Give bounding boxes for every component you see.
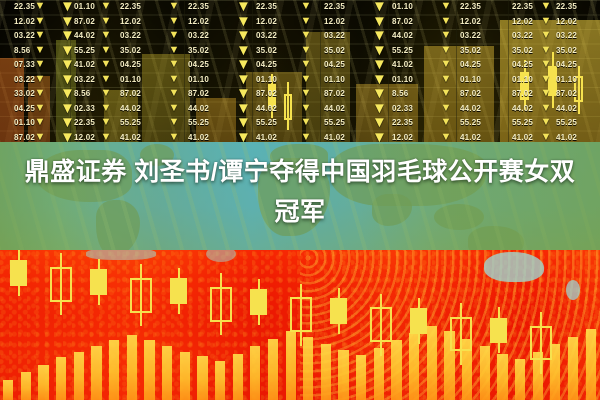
ticker-quote-value: 12.02: [256, 15, 302, 30]
ticker-quote-value: 03.22: [188, 29, 234, 44]
arrow-down-icon: ▼: [100, 87, 112, 102]
volume-bar: [91, 346, 101, 400]
candlestick: [130, 264, 152, 326]
candlestick: [210, 273, 232, 335]
arrow-down-icon: ▼: [100, 73, 112, 88]
ticker-quote-value: 01.10: [120, 73, 166, 88]
ticker-arrow-column: ▼▼▼▼▼▼▼▼▼▼▼: [540, 0, 552, 150]
arrow-down-icon: ▼: [168, 44, 180, 59]
candlestick-body: [330, 298, 347, 324]
ticker-arrow-column: ▼▼▼▼▼▼▼▼▼▼▼: [34, 0, 46, 150]
column-divider: [508, 0, 509, 150]
candlestick-body: [210, 287, 232, 322]
volume-bar: [515, 359, 525, 400]
headline-block: 鼎盛证券 刘圣书/谭宁夺得中国羽毛球公开赛女双 冠军: [0, 152, 600, 252]
ticker-quote-value: 04.25: [460, 58, 506, 73]
ticker-arrow-column: ▼▼▼▼▼▼▼▼▼▼▼: [100, 0, 112, 150]
ticker-quote-value: 55.25: [460, 116, 506, 131]
ticker-quote-value: 02.33: [392, 102, 438, 117]
volume-bar: [162, 346, 172, 400]
ticker-quote-column: 22.3512.0203.2235.0204.2501.1087.0244.02…: [120, 0, 166, 150]
arrow-down-icon: ▼: [168, 29, 180, 44]
arrow-down-icon: ▼: [168, 58, 180, 73]
candlestick-body: [450, 317, 472, 352]
ticker-quote-value: 04.25: [556, 58, 600, 73]
volume-bar: [144, 340, 154, 400]
ticker-quote-value: 03.22: [120, 29, 166, 44]
ticker-quote-value: 55.25: [120, 116, 166, 131]
candlestick-body: [170, 278, 187, 304]
candlestick: [410, 298, 427, 344]
arrow-down-icon: ▼: [100, 58, 112, 73]
candlestick: [530, 312, 552, 374]
ticker-quote-value: 87.02: [460, 87, 506, 102]
ticker-quote-value: 35.02: [188, 44, 234, 59]
ticker-quote-value: 55.25: [324, 116, 370, 131]
ticker-quote-value: 22.35: [188, 0, 234, 15]
column-divider: [184, 0, 185, 150]
volume-bar: [338, 350, 348, 400]
ticker-arrow-column: ▼▼▼▼▼▼▼▼▼▼▼: [440, 0, 452, 150]
volume-bar: [109, 340, 119, 400]
ticker-quote-value: 03.22: [324, 29, 370, 44]
arrow-down-icon: ▼: [540, 87, 552, 102]
volume-bar: [568, 337, 578, 400]
ticker-quote-value: 44.02: [74, 29, 120, 44]
arrow-down-icon: ▼: [34, 87, 46, 102]
ticker-quote-value: 01.10: [556, 73, 600, 88]
ticker-quote-value: 03.22: [74, 73, 120, 88]
ticker-quote-value: 12.02: [556, 15, 600, 30]
candlestick-body: [410, 308, 427, 334]
arrow-down-icon: ▼: [300, 116, 312, 131]
ticker-quote-value: 41.02: [392, 58, 438, 73]
volume-bar: [268, 339, 278, 400]
volume-bar: [21, 372, 31, 400]
arrow-down-icon: ▼: [440, 29, 452, 44]
arrow-down-icon: ▼: [100, 15, 112, 30]
volume-bar: [497, 354, 507, 400]
arrow-down-icon: ▼: [168, 15, 180, 30]
ticker-quote-value: 44.02: [556, 102, 600, 117]
arrow-down-icon: ▼: [168, 0, 180, 15]
ticker-quote-value: 87.02: [324, 87, 370, 102]
arrow-down-icon: ▼: [300, 58, 312, 73]
ticker-quote-value: 01.10: [392, 73, 438, 88]
ticker-quote-value: 22.35: [324, 0, 370, 15]
ticker-quote-column: 22.3512.0203.2235.0204.2501.1087.0244.02…: [460, 0, 506, 150]
ticker-arrow-column: ▼▼▼▼▼▼▼▼▼▼▼: [372, 0, 384, 150]
candlestick-body: [10, 260, 27, 286]
ticker-quote-value: 55.25: [392, 44, 438, 59]
column-divider: [320, 0, 321, 150]
arrow-down-icon: ▼: [34, 73, 46, 88]
stock-ticker-board: 22.3512.0203.228.5607.3303.2233.0204.250…: [0, 0, 600, 150]
candlestick: [330, 288, 347, 334]
ticker-quote-value: 04.25: [188, 58, 234, 73]
arrow-down-icon: ▼: [34, 58, 46, 73]
arrow-down-icon: ▼: [540, 58, 552, 73]
volume-bar: [38, 365, 48, 400]
arrow-down-icon: ▼: [34, 0, 46, 15]
ticker-quote-column: 22.3512.0203.2235.0204.2501.1087.0244.02…: [324, 0, 370, 150]
arrow-down-icon: ▼: [34, 44, 46, 59]
candlestick-body: [290, 297, 312, 332]
ticker-quote-value: 01.10: [392, 0, 438, 15]
volume-bar: [74, 352, 84, 400]
arrow-down-icon: ▼: [300, 87, 312, 102]
arrow-down-icon: ▼: [540, 15, 552, 30]
ticker-quote-value: 22.35: [120, 0, 166, 15]
candlestick-body: [90, 269, 107, 295]
arrow-down-icon: ▼: [540, 73, 552, 88]
arrow-down-icon: ▼: [168, 116, 180, 131]
arrow-down-icon: ▼: [100, 0, 112, 15]
ticker-quote-value: 87.02: [256, 87, 302, 102]
ticker-quote-value: 41.02: [74, 58, 120, 73]
candlestick-body: [530, 326, 552, 361]
column-divider: [456, 0, 457, 150]
ticker-quote-value: 55.25: [556, 116, 600, 131]
ticker-quote-value: 55.25: [188, 116, 234, 131]
ticker-quote-value: 22.35: [556, 0, 600, 15]
ticker-quote-value: 22.35: [392, 116, 438, 131]
candlestick-body: [130, 278, 152, 313]
ticker-quote-value: 03.22: [256, 29, 302, 44]
column-divider: [252, 0, 253, 150]
ticker-quote-value: 35.02: [120, 44, 166, 59]
volume-bar: [356, 355, 366, 400]
arrow-down-icon: ▼: [100, 102, 112, 117]
arrow-down-icon: ▼: [168, 73, 180, 88]
ticker-quote-value: 01.10: [256, 73, 302, 88]
ticker-quote-value: 04.25: [324, 58, 370, 73]
ticker-quote-value: 35.02: [256, 44, 302, 59]
arrow-down-icon: ▼: [440, 102, 452, 117]
ticker-quote-value: 87.02: [392, 15, 438, 30]
arrow-down-icon: ▼: [540, 44, 552, 59]
ticker-quote-value: 44.02: [188, 102, 234, 117]
arrow-down-icon: ▼: [540, 0, 552, 15]
ticker-quote-value: 03.22: [556, 29, 600, 44]
ticker-quote-value: 12.02: [188, 15, 234, 30]
volume-bar: [127, 335, 137, 400]
candlestick: [370, 294, 392, 356]
ticker-quote-column: 22.3512.0203.2235.0204.2501.1087.0244.02…: [556, 0, 600, 150]
volume-bar: [56, 357, 66, 400]
ticker-quote-column: 22.3512.0203.2235.0204.2501.1087.0244.02…: [256, 0, 302, 150]
ticker-quote-value: 12.02: [120, 15, 166, 30]
arrow-down-icon: ▼: [440, 0, 452, 15]
candlestick-body: [50, 267, 72, 302]
candlestick-body: [490, 318, 507, 344]
ticker-quote-value: 01.10: [324, 73, 370, 88]
news-thumbnail: 22.3512.0203.228.5607.3303.2233.0204.250…: [0, 0, 600, 400]
ticker-quote-value: 44.02: [460, 102, 506, 117]
ticker-quote-value: 44.02: [120, 102, 166, 117]
ticker-quote-value: 44.02: [324, 102, 370, 117]
arrow-down-icon: ▼: [440, 73, 452, 88]
arrow-down-icon: ▼: [540, 29, 552, 44]
candlestick: [90, 259, 107, 305]
ticker-quote-value: 04.25: [120, 58, 166, 73]
volume-bar: [427, 326, 437, 400]
candlestick: [290, 284, 312, 346]
ticker-quote-value: 01.10: [188, 73, 234, 88]
arrow-down-icon: ▼: [34, 29, 46, 44]
ticker-quote-value: 22.35: [74, 116, 120, 131]
ticker-arrow-column: ▼▼▼▼▼▼▼▼▼▼▼: [300, 0, 312, 150]
ticker-arrow-column: ▼▼▼▼▼▼▼▼▼▼▼: [236, 0, 248, 150]
map-fragment-australia: [484, 252, 544, 282]
candlestick-chart-band: [0, 250, 600, 400]
candlestick: [50, 253, 72, 315]
arrow-down-icon: ▼: [300, 0, 312, 15]
arrow-down-icon: ▼: [100, 44, 112, 59]
arrow-down-icon: ▼: [540, 116, 552, 131]
volume-bar: [215, 361, 225, 400]
ticker-quote-column: 01.1087.0244.0255.2541.0203.228.5602.332…: [74, 0, 120, 150]
arrow-down-icon: ▼: [100, 116, 112, 131]
ticker-quote-value: 35.02: [556, 44, 600, 59]
arrow-down-icon: ▼: [440, 116, 452, 131]
ticker-quote-value: 01.10: [74, 0, 120, 15]
candlestick: [450, 303, 472, 365]
candlestick: [170, 268, 187, 314]
ticker-quote-value: 12.02: [460, 15, 506, 30]
ticker-quote-value: 44.02: [392, 29, 438, 44]
ticker-quote-column: 22.3512.0203.2235.0204.2501.1087.0244.02…: [188, 0, 234, 150]
ticker-quote-value: 55.25: [74, 44, 120, 59]
arrow-down-icon: ▼: [300, 44, 312, 59]
arrow-down-icon: ▼: [440, 44, 452, 59]
volume-bar: [480, 346, 490, 400]
volume-bar: [197, 356, 207, 400]
ticker-arrow-column: ▼▼▼▼▼▼▼▼▼▼▼: [60, 0, 72, 150]
volume-bar: [180, 352, 190, 400]
arrow-down-icon: ▼: [34, 116, 46, 131]
ticker-quote-value: 87.02: [556, 87, 600, 102]
arrow-down-icon: ▼: [300, 15, 312, 30]
ticker-quote-value: 44.02: [256, 102, 302, 117]
ticker-quote-value: 04.25: [256, 58, 302, 73]
ticker-quote-value: 35.02: [324, 44, 370, 59]
candlestick-body: [370, 307, 392, 342]
ticker-quote-value: 87.02: [120, 87, 166, 102]
ticker-quote-value: 35.02: [460, 44, 506, 59]
ticker-quote-value: 87.02: [74, 15, 120, 30]
arrow-down-icon: ▼: [540, 102, 552, 117]
ticker-quote-value: 12.02: [324, 15, 370, 30]
ticker-quote-value: 22.35: [256, 0, 302, 15]
arrow-down-icon: ▼: [34, 102, 46, 117]
ticker-quote-value: 87.02: [188, 87, 234, 102]
arrow-down-icon: ▼: [34, 15, 46, 30]
arrow-down-icon: ▼: [168, 102, 180, 117]
candlestick-body: [250, 289, 267, 315]
ticker-quote-value: 01.10: [460, 73, 506, 88]
arrow-down-icon: ▼: [300, 102, 312, 117]
volume-bar: [321, 344, 331, 400]
headline-line-2: 冠军: [274, 192, 325, 232]
arrow-down-icon: ▼: [168, 87, 180, 102]
volume-bar: [3, 380, 13, 400]
volume-bar: [250, 346, 260, 400]
arrow-down-icon: ▼: [300, 73, 312, 88]
candlestick: [250, 279, 267, 325]
ticker-quote-value: 55.25: [256, 116, 302, 131]
arrow-down-icon: ▼: [440, 87, 452, 102]
volume-bar: [374, 348, 384, 400]
column-divider: [388, 0, 389, 150]
volume-bar: [391, 340, 401, 400]
volume-bar: [303, 337, 313, 400]
candlestick: [490, 307, 507, 353]
ticker-quote-value: 8.56: [74, 87, 120, 102]
arrow-down-icon: ▼: [440, 58, 452, 73]
volume-bar: [586, 329, 596, 400]
ticker-quote-value: 8.56: [392, 87, 438, 102]
ticker-quote-value: 02.33: [74, 102, 120, 117]
volume-bar: [233, 354, 243, 400]
ticker-arrow-column: ▼▼▼▼▼▼▼▼▼▼▼: [168, 0, 180, 150]
headline-line-1: 鼎盛证券 刘圣书/谭宁夺得中国羽毛球公开赛女双: [25, 152, 575, 192]
arrow-down-icon: ▼: [300, 29, 312, 44]
candlestick: [10, 250, 27, 296]
ticker-quote-column: 01.1087.0244.0255.2541.0201.108.5602.332…: [392, 0, 438, 150]
ticker-quote-value: 03.22: [460, 29, 506, 44]
arrow-down-icon: ▼: [100, 29, 112, 44]
map-fragment-newzealand: [566, 280, 580, 300]
arrow-down-icon: ▼: [440, 15, 452, 30]
ticker-quote-value: 22.35: [460, 0, 506, 15]
